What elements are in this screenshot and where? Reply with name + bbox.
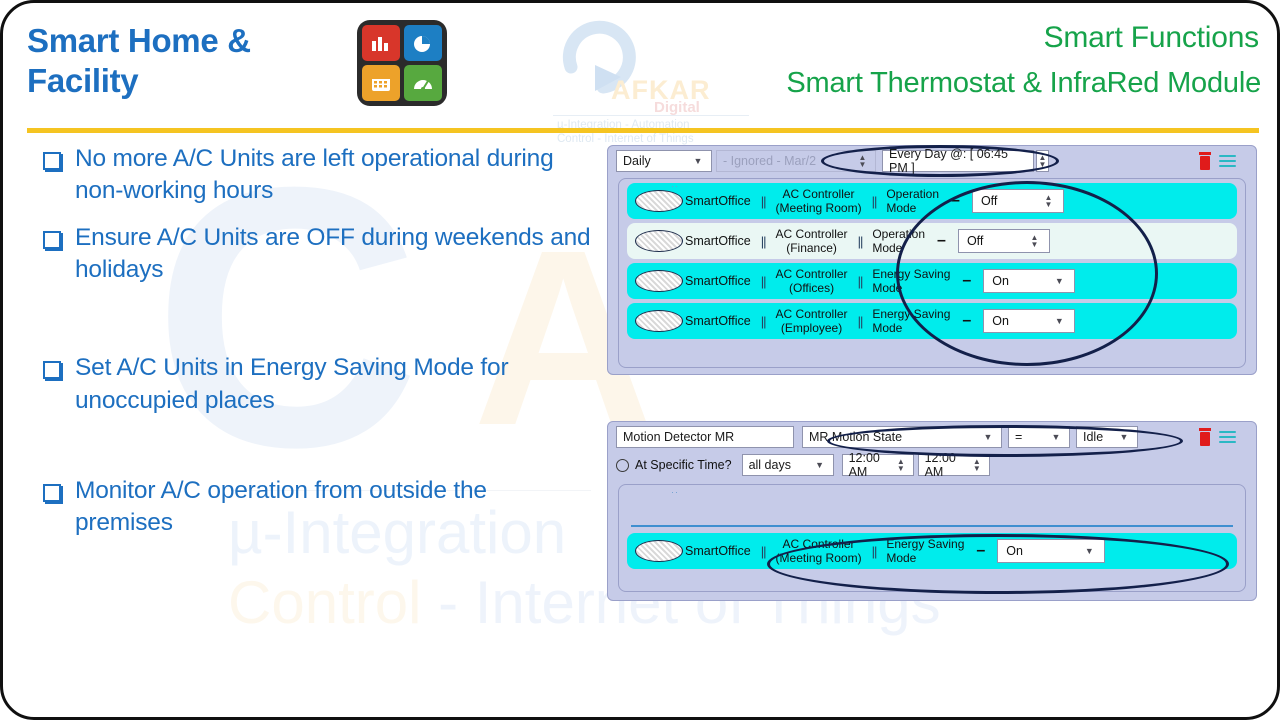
watermark-tagline-dash: -	[438, 569, 458, 636]
stepper-icon[interactable]: ▲▼	[1028, 231, 1041, 251]
bullet-text: Ensure A/C Units are OFF during weekends…	[75, 222, 591, 287]
separator: ||	[872, 194, 877, 209]
page-title-line1: Smart Home &	[27, 21, 357, 61]
stepper-icon[interactable]: ▲▼	[895, 455, 906, 475]
ignored-date-value: - Ignored - Mar/2	[723, 154, 816, 168]
target-line1: AC Controller	[776, 267, 848, 281]
action-value-field[interactable]: On ▼	[983, 269, 1075, 293]
afkar-underline	[553, 115, 749, 116]
property-line1: Energy Saving	[886, 537, 964, 551]
bullet-text: No more A/C Units are left operational d…	[75, 143, 591, 208]
specific-time-radio[interactable]	[616, 459, 629, 472]
watermark-tagline-2a: Control	[228, 569, 421, 636]
property-line1: Operation	[872, 227, 925, 241]
days-value: all days	[749, 458, 791, 472]
hamburger-icon[interactable]	[1219, 431, 1236, 443]
section-title: Smart Functions	[1044, 21, 1259, 55]
arrow-icon: –	[951, 193, 960, 209]
bullet-text: Monitor A/C operation from outside the p…	[75, 475, 591, 540]
target-line2: (Employee)	[781, 321, 842, 335]
separator: ||	[872, 544, 877, 559]
device-name: SmartOffice	[685, 274, 751, 288]
target-name: AC Controller (Meeting Room)	[776, 187, 862, 215]
device-name: SmartOffice	[685, 544, 751, 558]
device-name: SmartOffice	[685, 234, 751, 248]
specific-time-label: At Specific Time?	[635, 458, 732, 472]
device-name: SmartOffice	[685, 314, 751, 328]
property-name: Energy Saving Mode	[872, 307, 950, 335]
arrow-icon: –	[962, 273, 971, 289]
to-time-field[interactable]: 12:00 AM ▲▼	[918, 454, 990, 476]
chevron-down-icon: ▼	[981, 427, 995, 447]
pie-chart-icon	[404, 25, 442, 61]
separator: ||	[761, 194, 766, 209]
table-row[interactable]: SmartOffice || AC Controller (Meeting Ro…	[627, 533, 1237, 569]
action-value: On	[992, 274, 1009, 288]
checkbox-bullet-icon	[43, 361, 61, 379]
property-line2: Mode	[886, 201, 916, 215]
target-line2: (Finance)	[786, 241, 837, 255]
section-subtitle: Smart Thermostat & InfraRed Module	[786, 67, 1261, 100]
separator: ||	[858, 314, 863, 329]
target-line1: AC Controller	[783, 537, 855, 551]
chevron-down-icon: ▼	[691, 151, 705, 171]
table-row[interactable]: SmartOffice || AC Controller (Employee) …	[627, 303, 1237, 339]
checkbox-bullet-icon	[43, 152, 61, 170]
separator: ||	[761, 314, 766, 329]
calendar-icon	[362, 65, 400, 101]
motion-actions-container: ·· SmartOffice || AC Controller (Meeting…	[618, 484, 1246, 592]
property-line1: Energy Saving	[872, 307, 950, 321]
action-value: On	[992, 314, 1009, 328]
action-value-field[interactable]: On ▼	[983, 309, 1075, 333]
bar-chart-icon	[362, 25, 400, 61]
condition-state-value: MR Motion State	[809, 430, 902, 444]
table-row[interactable]: SmartOffice || AC Controller (Finance) |…	[627, 223, 1237, 259]
motion-rule-panel: Motion Detector MR MR Motion State ▼ = ▼…	[607, 421, 1257, 601]
target-name: AC Controller (Meeting Room)	[776, 537, 862, 565]
device-avatar-icon	[635, 310, 683, 332]
table-row[interactable]: SmartOffice || AC Controller (Offices) |…	[627, 263, 1237, 299]
arrow-icon: –	[937, 233, 946, 249]
target-line1: AC Controller	[783, 187, 855, 201]
condition-operator-value: =	[1015, 430, 1022, 444]
chevron-down-icon: ▼	[813, 455, 827, 475]
action-value-field[interactable]: Off ▲▼	[972, 189, 1064, 213]
trash-icon[interactable]	[1198, 428, 1212, 446]
separator: ||	[761, 274, 766, 289]
property-line2: Mode	[886, 551, 916, 565]
action-value: Off	[981, 194, 997, 208]
checkbox-bullet-icon	[43, 484, 61, 502]
chevron-down-icon[interactable]: ▼	[1052, 271, 1066, 291]
slide-root: C A µ-Integration Control - Internet of …	[0, 0, 1280, 720]
checkbox-bullet-icon	[43, 231, 61, 249]
arrow-icon: –	[976, 543, 985, 559]
chevron-down-icon: ▼	[1117, 427, 1131, 447]
hamburger-icon[interactable]	[1219, 155, 1236, 167]
table-row[interactable]: SmartOffice || AC Controller (Meeting Ro…	[627, 183, 1237, 219]
every-day-stepper[interactable]: ▲▼	[1036, 150, 1049, 172]
from-time-field[interactable]: 12:00 AM ▲▼	[842, 454, 914, 476]
afkar-watermark-logo: AFKAR Digital µ-Integration - Automation…	[551, 27, 751, 127]
bullet-text: Set A/C Units in Energy Saving Mode for …	[75, 352, 591, 417]
page-title: Smart Home & Facility	[27, 21, 357, 102]
list-item: Ensure A/C Units are OFF during weekends…	[31, 222, 591, 287]
afkar-brand-sub: Digital	[654, 99, 700, 116]
action-value: Off	[967, 234, 983, 248]
page-title-line2: Facility	[27, 61, 357, 101]
target-name: AC Controller (Finance)	[776, 227, 848, 255]
device-avatar-icon	[635, 540, 683, 562]
target-line2: (Meeting Room)	[776, 201, 862, 215]
every-day-time-field[interactable]: Every Day @: [ 06:45 PM ]	[882, 150, 1034, 172]
property-line2: Mode	[872, 321, 902, 335]
from-time-value: 12:00 AM	[849, 451, 896, 479]
list-item: Set A/C Units in Energy Saving Mode for …	[31, 352, 591, 417]
stepper-icon[interactable]: ▲▼	[971, 455, 982, 475]
condition-value-value: Idle	[1083, 430, 1103, 444]
every-day-time-value: Every Day @: [ 06:45 PM ]	[889, 147, 1027, 175]
separator: ||	[761, 544, 766, 559]
property-name: Energy Saving Mode	[872, 267, 950, 295]
app-logo	[357, 20, 447, 106]
gauge-icon	[404, 65, 442, 101]
target-line2: (Meeting Room)	[776, 551, 862, 565]
chevron-down-icon: ▼	[1049, 427, 1063, 447]
action-value-field[interactable]: Off ▲▼	[958, 229, 1050, 253]
target-line1: AC Controller	[776, 227, 848, 241]
separator: ||	[761, 234, 766, 249]
recurrence-select[interactable]: Daily ▼	[616, 150, 712, 172]
device-avatar-icon	[635, 230, 683, 252]
section-divider	[631, 525, 1233, 527]
device-avatar-icon	[635, 190, 683, 212]
property-name: Operation Mode	[872, 227, 925, 255]
chevron-down-icon[interactable]: ▼	[1052, 311, 1066, 331]
action-value: On	[1006, 544, 1023, 558]
schedule-trigger-row: Daily ▼ - Ignored - Mar/2 ▲▼ Every Day @…	[608, 146, 1256, 176]
property-line2: Mode	[872, 281, 902, 295]
property-name: Energy Saving Mode	[886, 537, 964, 565]
motion-condition-row: Motion Detector MR MR Motion State ▼ = ▼…	[608, 422, 1256, 452]
device-name: SmartOffice	[685, 194, 751, 208]
action-value-field[interactable]: On ▼	[997, 539, 1105, 563]
to-time-value: 12:00 AM	[925, 451, 972, 479]
schedule-rule-panel: Daily ▼ - Ignored - Mar/2 ▲▼ Every Day @…	[607, 145, 1257, 375]
grip-dots-icon: ··	[671, 181, 679, 191]
stepper-icon[interactable]: ▲▼	[856, 151, 869, 171]
property-name: Operation Mode	[886, 187, 939, 215]
condition-value-select[interactable]: Idle ▼	[1076, 426, 1138, 448]
stepper-icon[interactable]: ▲▼	[1042, 191, 1055, 211]
target-line1: AC Controller	[776, 307, 848, 321]
arrow-icon: –	[962, 313, 971, 329]
recurrence-value: Daily	[623, 154, 651, 168]
condition-device-value: Motion Detector MR	[623, 430, 734, 444]
chevron-down-icon[interactable]: ▼	[1082, 541, 1096, 561]
time-filter-row: At Specific Time? all days ▼ 12:00 AM ▲▼…	[608, 452, 1256, 478]
device-avatar-icon	[635, 270, 683, 292]
property-line1: Energy Saving	[872, 267, 950, 281]
property-line2: Mode	[872, 241, 902, 255]
list-item: No more A/C Units are left operational d…	[31, 143, 591, 208]
trash-icon[interactable]	[1198, 152, 1212, 170]
target-line2: (Offices)	[789, 281, 834, 295]
schedule-actions-container: ·· SmartOffice || AC Controller (Meeting…	[618, 178, 1246, 368]
separator: ||	[858, 234, 863, 249]
property-line1: Operation	[886, 187, 939, 201]
separator: ||	[858, 274, 863, 289]
list-item: Monitor A/C operation from outside the p…	[31, 475, 591, 540]
bullet-list: No more A/C Units are left operational d…	[31, 143, 591, 554]
header-rule	[27, 128, 1259, 133]
grip-dots-icon: ··	[671, 487, 679, 497]
condition-operator-select[interactable]: = ▼	[1008, 426, 1070, 448]
condition-device-field[interactable]: Motion Detector MR	[616, 426, 794, 448]
condition-state-select[interactable]: MR Motion State ▼	[802, 426, 1002, 448]
days-select[interactable]: all days ▼	[742, 454, 834, 476]
target-name: AC Controller (Offices)	[776, 267, 848, 295]
ignored-date-field[interactable]: - Ignored - Mar/2 ▲▼	[716, 150, 876, 172]
target-name: AC Controller (Employee)	[776, 307, 848, 335]
